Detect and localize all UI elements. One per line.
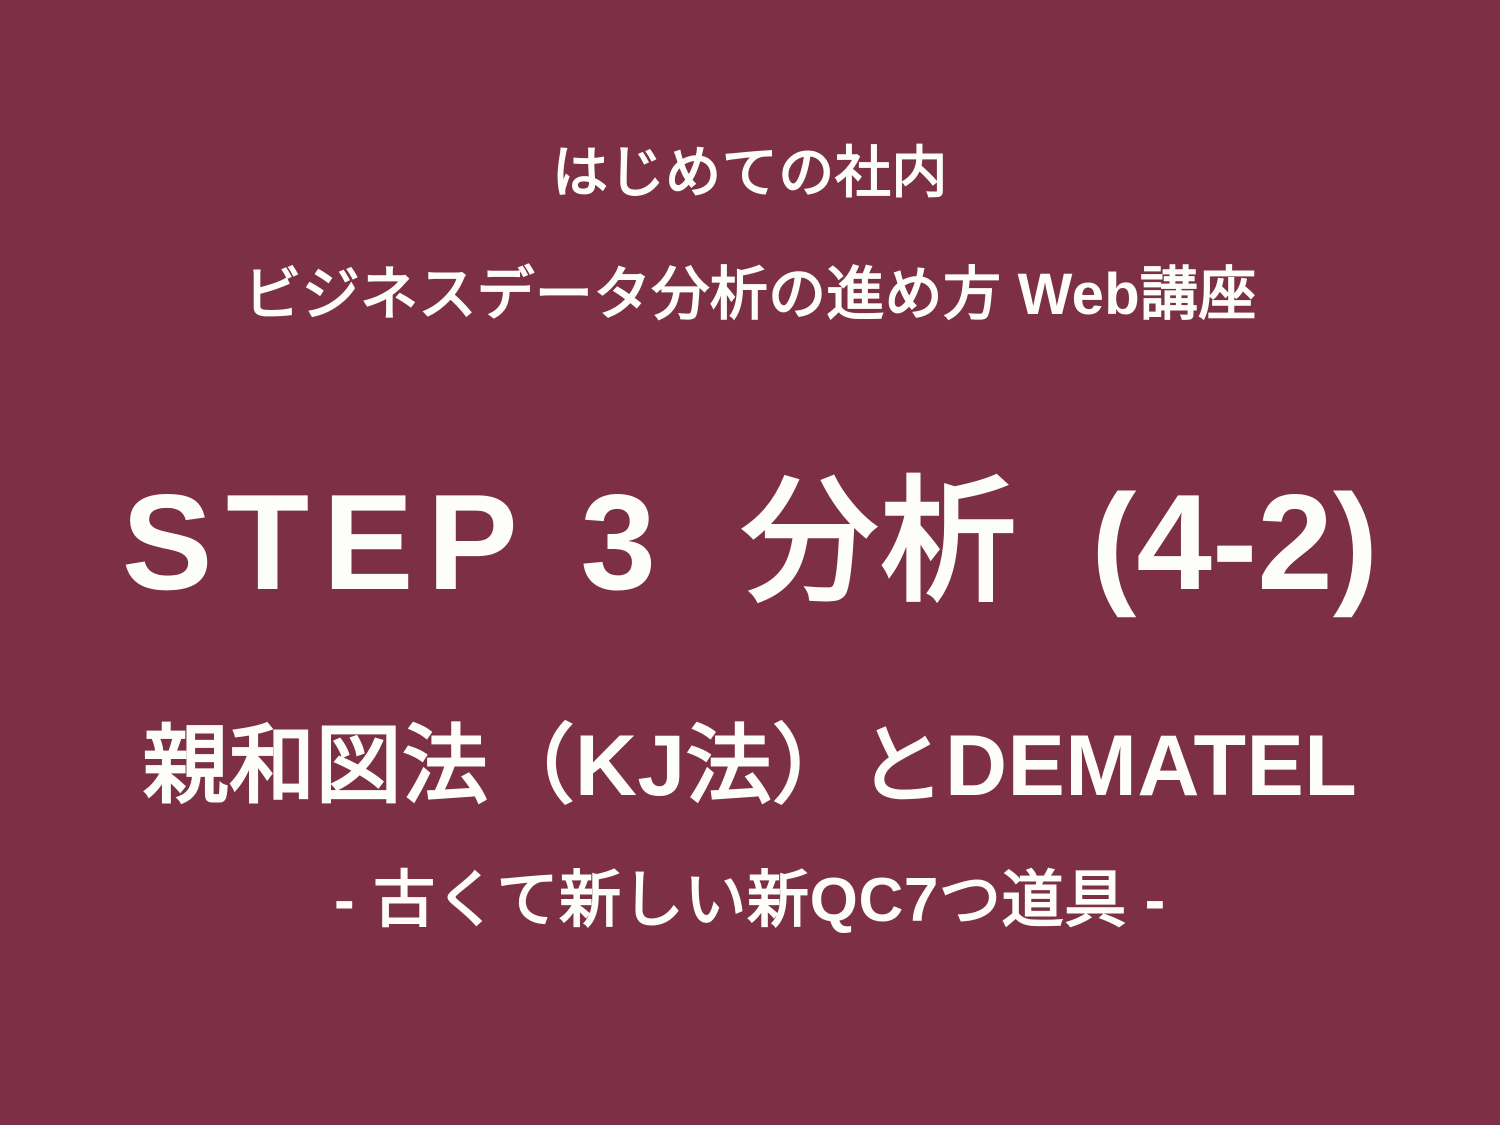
method-subtitle: 親和図法（KJ法）とDEMATEL — [0, 718, 1500, 814]
tagline-subtitle: - 古くて新しい新QC7つ道具 - — [0, 866, 1500, 935]
title-slide: はじめての社内 ビジネスデータ分析の進め方 Web講座 STEP 3分析(4-2… — [0, 0, 1500, 1125]
step-topic-label: 分析 — [742, 466, 1019, 618]
step-number-label: STEP 3 — [122, 466, 670, 618]
course-title-block: はじめての社内 ビジネスデータ分析の進め方 Web講座 — [0, 142, 1500, 328]
page-title: STEP 3分析(4-2) — [0, 472, 1500, 613]
step-part-label: (4-2) — [1091, 466, 1378, 618]
course-title-line-1: はじめての社内 — [0, 142, 1500, 205]
course-title-line-2: ビジネスデータ分析の進め方 Web講座 — [0, 263, 1500, 328]
